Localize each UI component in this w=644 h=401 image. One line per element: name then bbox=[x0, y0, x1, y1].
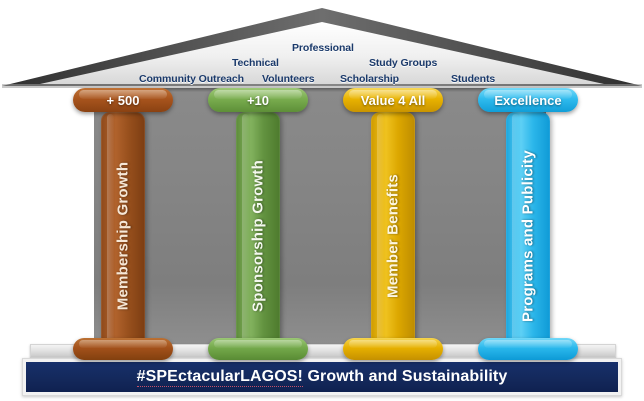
tagline-suffix: Growth and Sustainability bbox=[303, 368, 507, 385]
temple-body-background bbox=[94, 88, 546, 350]
tagline-banner: #SPEctacularLAGOS! Growth and Sustainabi… bbox=[22, 358, 622, 396]
shaft-highlight bbox=[512, 114, 519, 358]
pillars-infographic: Professional Technical Study Groups Comm… bbox=[0, 0, 644, 401]
column-shaft: Programs and Publicity bbox=[506, 112, 550, 360]
tagline-hashtag: #SPEctacularLAGOS! bbox=[137, 368, 303, 387]
column-base bbox=[478, 338, 578, 360]
column-shaft: Member Benefits bbox=[371, 112, 415, 360]
column-capital[interactable]: + 500 bbox=[73, 88, 173, 112]
column-shaft-label: Sponsorship Growth bbox=[250, 160, 267, 312]
column-shaft-label: Programs and Publicity bbox=[520, 150, 537, 322]
shaft-highlight bbox=[377, 114, 384, 358]
column-base bbox=[343, 338, 443, 360]
tagline-text: #SPEctacularLAGOS! Growth and Sustainabi… bbox=[137, 368, 508, 386]
base-highlight bbox=[349, 340, 437, 348]
column-sponsorship-growth[interactable]: Sponsorship Growth +10 bbox=[236, 88, 280, 360]
base-highlight bbox=[484, 340, 572, 348]
shaft-highlight bbox=[242, 114, 249, 358]
column-base bbox=[208, 338, 308, 360]
tagline-banner-inner: #SPEctacularLAGOS! Growth and Sustainabi… bbox=[26, 362, 618, 392]
column-shaft: Sponsorship Growth bbox=[236, 112, 280, 360]
column-membership-growth[interactable]: Membership Growth + 500 bbox=[101, 88, 145, 360]
column-capital[interactable]: Excellence bbox=[478, 88, 578, 112]
column-capital[interactable]: +10 bbox=[208, 88, 308, 112]
column-capital[interactable]: Value 4 All bbox=[343, 88, 443, 112]
base-highlight bbox=[214, 340, 302, 348]
column-shaft: Membership Growth bbox=[101, 112, 145, 360]
column-member-benefits[interactable]: Member Benefits Value 4 All bbox=[371, 88, 415, 360]
capital-label: + 500 bbox=[107, 93, 140, 108]
roof-pediment bbox=[0, 6, 644, 92]
base-highlight bbox=[79, 340, 167, 348]
capital-label: +10 bbox=[247, 93, 269, 108]
column-base bbox=[73, 338, 173, 360]
column-programs-and-publicity[interactable]: Programs and Publicity Excellence bbox=[506, 88, 550, 360]
column-shaft-label: Membership Growth bbox=[115, 162, 132, 310]
capital-label: Excellence bbox=[494, 93, 561, 108]
column-shaft-label: Member Benefits bbox=[385, 174, 402, 298]
shaft-highlight bbox=[107, 114, 114, 358]
capital-label: Value 4 All bbox=[361, 93, 426, 108]
